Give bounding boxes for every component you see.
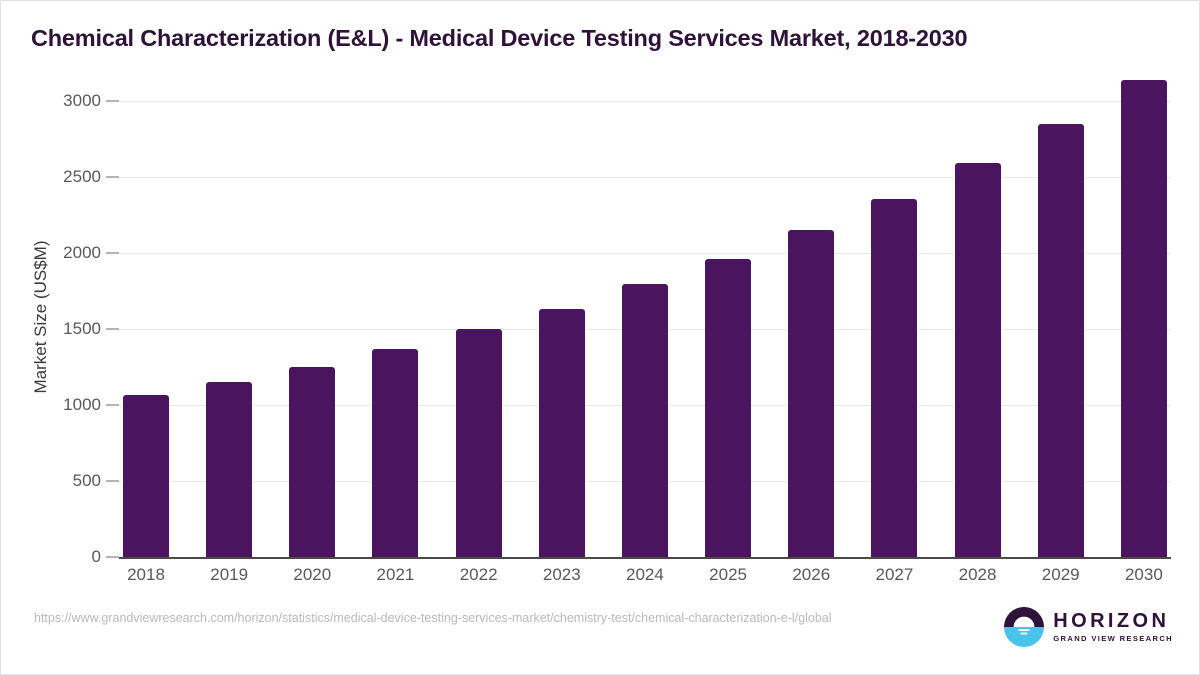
logo-tagline: GRAND VIEW RESEARCH [1053, 635, 1173, 643]
horizon-logo-text: HORIZON GRAND VIEW RESEARCH [1053, 611, 1173, 643]
bar-slot [1121, 71, 1167, 557]
source-url[interactable]: https://www.grandviewresearch.com/horizo… [34, 610, 934, 627]
y-axis-tick-label: 1500 [63, 319, 101, 339]
bar[interactable] [1121, 80, 1167, 557]
bar-slot [372, 71, 418, 557]
x-axis-tick-label: 2027 [871, 565, 917, 585]
y-axis-tick-label: 2500 [63, 167, 101, 187]
bar[interactable] [372, 349, 418, 557]
bar-slot [456, 71, 502, 557]
bar-slot [705, 71, 751, 557]
bar-series [119, 71, 1171, 557]
page-title: Chemical Characterization (E&L) - Medica… [31, 25, 1171, 52]
bar-slot [788, 71, 834, 557]
x-axis-labels: 2018201920202021202220232024202520262027… [119, 565, 1171, 585]
bar[interactable] [705, 259, 751, 557]
x-axis-tick-label: 2026 [788, 565, 834, 585]
bar[interactable] [456, 329, 502, 557]
y-axis-tick-mark [106, 481, 119, 482]
bar[interactable] [206, 382, 252, 557]
bar-slot [539, 71, 585, 557]
y-axis-tick-label: 0 [92, 547, 101, 567]
bar-slot [871, 71, 917, 557]
bar[interactable] [539, 309, 585, 557]
bar[interactable] [1038, 124, 1084, 557]
logo-name: HORIZON [1053, 611, 1173, 631]
bar-slot [1038, 71, 1084, 557]
x-axis-tick-label: 2024 [622, 565, 668, 585]
x-axis-tick-label: 2029 [1038, 565, 1084, 585]
y-axis-tick-mark [106, 557, 119, 558]
chart-page: Chemical Characterization (E&L) - Medica… [0, 0, 1200, 675]
bar[interactable] [289, 367, 335, 557]
x-axis-tick-label: 2020 [289, 565, 335, 585]
plot-area: Market Size (US$M) 050010001500200025003… [1, 71, 1200, 591]
y-axis-tick-label: 3000 [63, 91, 101, 111]
horizon-logo: HORIZON GRAND VIEW RESEARCH [1004, 607, 1173, 647]
y-axis-tick-mark [106, 177, 119, 178]
x-axis-tick-label: 2022 [456, 565, 502, 585]
y-axis-tick-label: 2000 [63, 243, 101, 263]
bar-slot [622, 71, 668, 557]
y-axis-tick-mark [106, 405, 119, 406]
footer: https://www.grandviewresearch.com/horizo… [1, 604, 1200, 674]
x-axis-tick-label: 2018 [123, 565, 169, 585]
y-axis-tick-mark [106, 101, 119, 102]
y-axis-tick-mark [106, 329, 119, 330]
bar[interactable] [955, 163, 1001, 557]
x-axis-tick-label: 2019 [206, 565, 252, 585]
bar[interactable] [788, 230, 834, 557]
bar[interactable] [871, 199, 917, 557]
bar-slot [955, 71, 1001, 557]
x-axis-tick-label: 2030 [1121, 565, 1167, 585]
x-axis-tick-label: 2023 [539, 565, 585, 585]
x-axis-tick-label: 2021 [372, 565, 418, 585]
bar-slot [123, 71, 169, 557]
bar[interactable] [123, 395, 169, 557]
x-axis-tick-label: 2028 [955, 565, 1001, 585]
x-axis-tick-label: 2025 [705, 565, 751, 585]
y-axis-tick-label: 500 [73, 471, 101, 491]
y-axis-tick-mark [106, 253, 119, 254]
y-axis-ticks: 050010001500200025003000 [35, 71, 119, 557]
bar[interactable] [622, 284, 668, 557]
bar-slot [289, 71, 335, 557]
x-axis-line [119, 557, 1171, 559]
bar-slot [206, 71, 252, 557]
horizon-logo-icon [1004, 607, 1044, 647]
y-axis-tick-label: 1000 [63, 395, 101, 415]
